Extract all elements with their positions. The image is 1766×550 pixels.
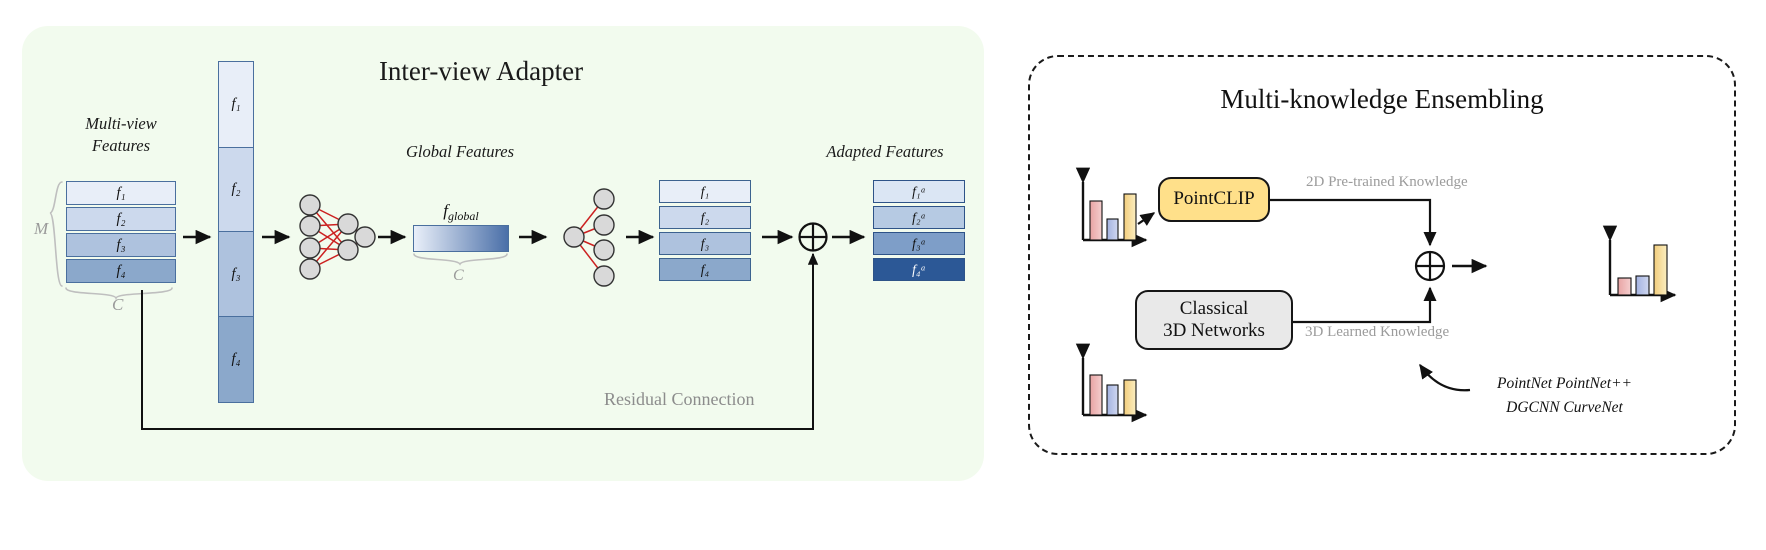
concat-segment: f₃: [218, 231, 254, 317]
figure-root: Inter-view Adapter Multi-view Features G…: [0, 0, 1766, 550]
multi-view-feature-stack: f₁ f₂ f₃ f₄: [66, 181, 176, 285]
brace-label-c-global: C: [453, 267, 464, 285]
global-features-label: Global Features: [330, 141, 590, 163]
concat-segment: f₂: [218, 147, 254, 233]
network-names-annotation: PointNet PointNet++ DGCNN CurveNet: [1497, 372, 1632, 420]
classical-label-line2: 3D Networks: [1163, 320, 1265, 342]
2d-pretrained-knowledge-label: 2D Pre-trained Knowledge: [1306, 174, 1468, 191]
3d-learned-knowledge-label: 3D Learned Knowledge: [1305, 324, 1449, 341]
output-feature-block: f₄: [659, 258, 751, 281]
multi-knowledge-ensembling-title: Multi-knowledge Ensembling: [1028, 84, 1736, 115]
brace-label-m: M: [34, 219, 48, 239]
network-names-line2: DGCNN CurveNet: [1497, 396, 1632, 420]
adapted-feature-block: f₃ᵃ: [873, 232, 965, 255]
output-feature-stack: f₁ f₂ f₃ f₄: [659, 180, 751, 284]
multi-view-label-line2: Features: [50, 135, 192, 157]
adapted-feature-stack: f₁ᵃ f₂ᵃ f₃ᵃ f₄ᵃ: [873, 180, 965, 284]
multi-view-feature-block: f₂: [66, 207, 176, 231]
pointclip-box[interactable]: PointCLIP: [1158, 177, 1270, 222]
multi-view-feature-block: f₁: [66, 181, 176, 205]
pointclip-label: PointCLIP: [1173, 188, 1254, 210]
brace-label-c: C: [112, 295, 123, 315]
residual-connection-label: Residual Connection: [604, 389, 754, 410]
concat-segment: f₁: [218, 61, 254, 148]
classical-3d-networks-box[interactable]: Classical 3D Networks: [1135, 290, 1293, 350]
inter-view-adapter-title: Inter-view Adapter: [0, 56, 962, 87]
multi-view-feature-block: f₄: [66, 259, 176, 283]
adapted-feature-block: f₄ᵃ: [873, 258, 965, 281]
output-feature-block: f₃: [659, 232, 751, 255]
output-feature-block: f₂: [659, 206, 751, 229]
multi-view-feature-block: f₃: [66, 233, 176, 257]
output-feature-block: f₁: [659, 180, 751, 203]
network-names-line1: PointNet PointNet++: [1497, 372, 1632, 396]
adapted-feature-block: f₂ᵃ: [873, 206, 965, 229]
global-feature-bar: [413, 225, 509, 252]
concat-segment: f₄: [218, 316, 254, 403]
multi-view-label-line1: Multi-view: [50, 113, 192, 135]
concatenated-feature-column: f₁ f₂ f₃ f₄: [218, 62, 254, 405]
adapted-feature-block: f₁ᵃ: [873, 180, 965, 203]
adapted-features-label: Adapted Features: [755, 141, 1015, 163]
multi-view-features-label: Multi-view Features: [50, 113, 192, 157]
classical-label-line1: Classical: [1163, 298, 1265, 320]
